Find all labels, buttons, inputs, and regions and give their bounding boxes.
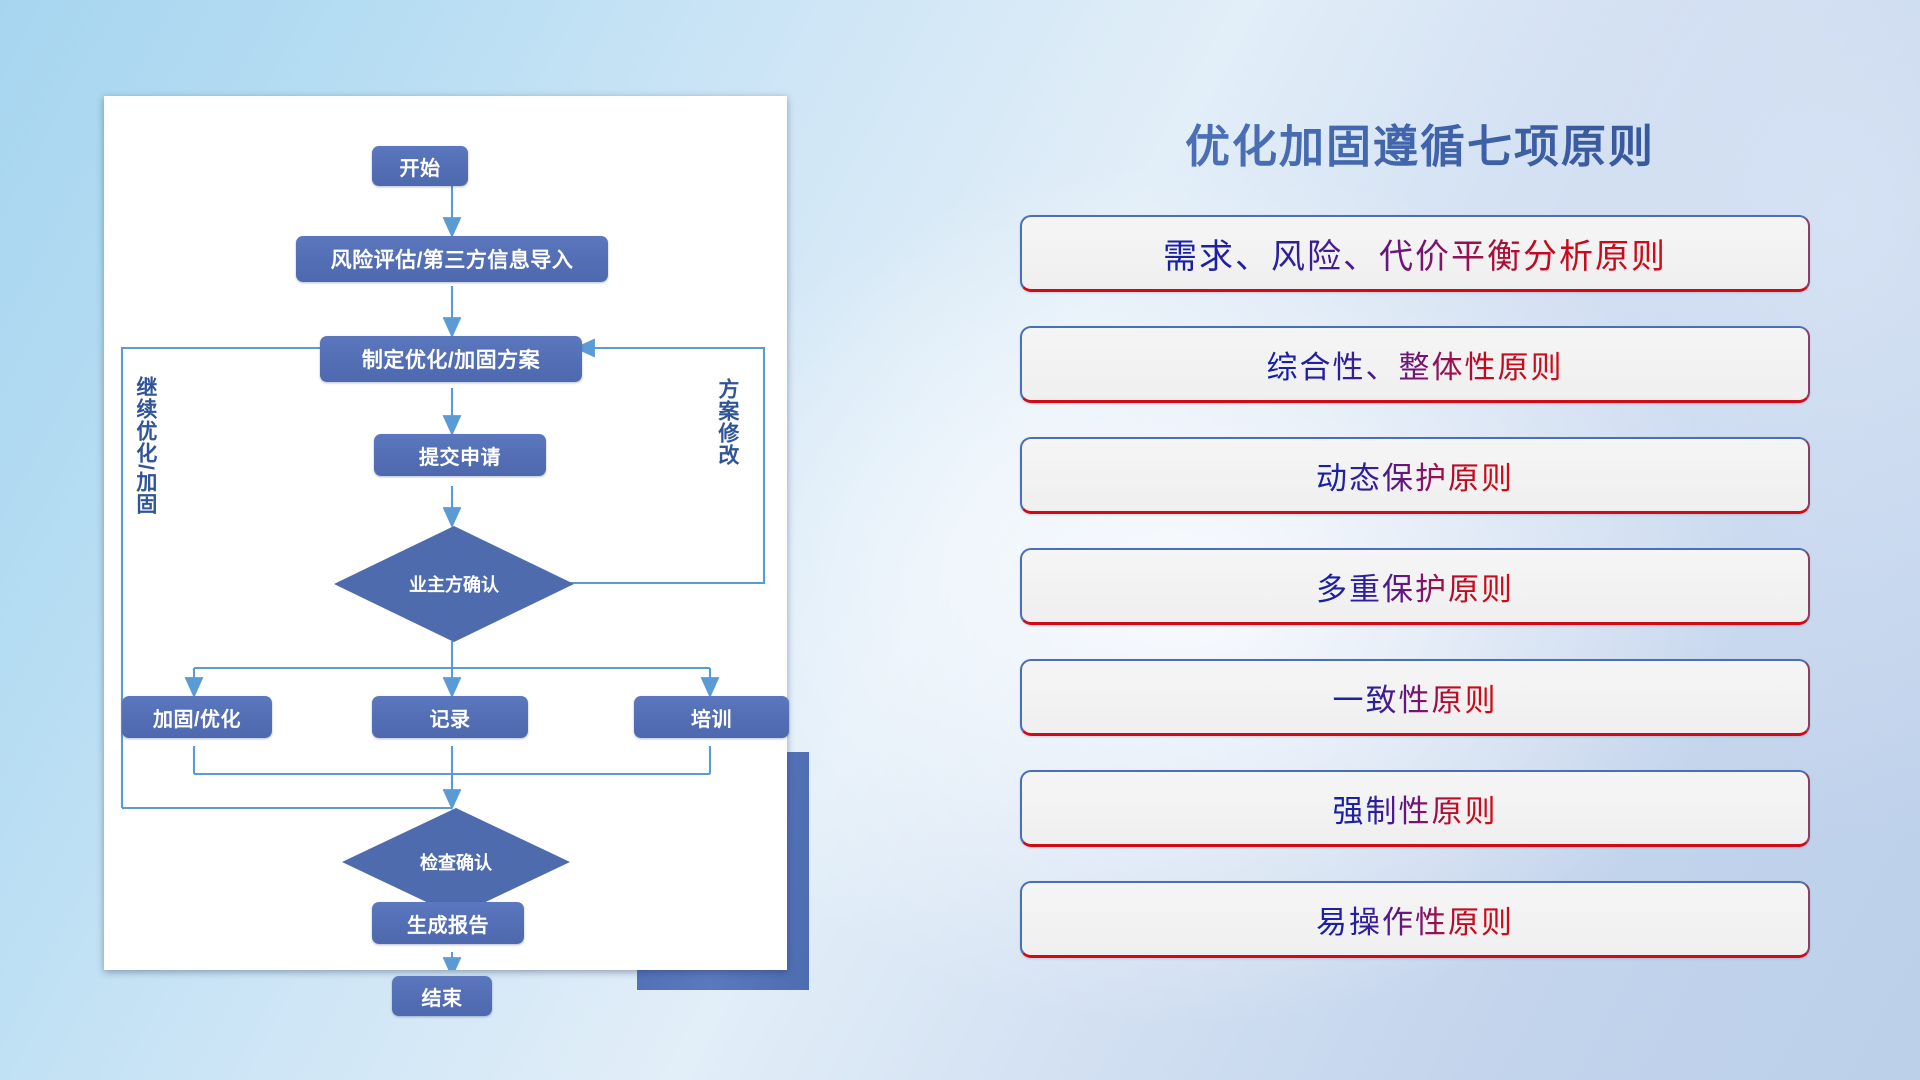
flowchart-card: 开始 风险评估/第三方信息导入 制定优化/加固方案 提交申请 业主方确认 加固/… <box>104 96 787 970</box>
flow-node-generate-report[interactable]: 生成报告 <box>372 902 524 944</box>
principle-item-7[interactable]: 易操作性原则 <box>1020 881 1810 958</box>
flow-node-label: 业主方确认 <box>409 571 499 597</box>
flow-node-make-plan[interactable]: 制定优化/加固方案 <box>320 336 582 382</box>
edge-label-continue-optimize: 继续优化/加固 <box>134 376 156 515</box>
flow-node-end[interactable]: 结束 <box>392 976 492 1016</box>
principle-label: 多重保护原则 <box>1316 564 1514 609</box>
principle-item-6[interactable]: 强制性原则 <box>1020 770 1810 847</box>
principle-label: 一致性原则 <box>1333 675 1498 720</box>
principles-panel: 优化加固遵循七项原则 需求、风险、代价平衡分析原则 综合性、整体性原则 动态保护… <box>1020 96 1820 996</box>
flow-node-reinforce-optimize[interactable]: 加固/优化 <box>122 696 272 738</box>
flow-node-label: 培训 <box>691 703 732 732</box>
principle-item-5[interactable]: 一致性原则 <box>1020 659 1810 736</box>
principle-label: 需求、风险、代价平衡分析原则 <box>1163 229 1667 278</box>
principle-label: 强制性原则 <box>1333 786 1498 831</box>
flow-node-label: 生成报告 <box>407 909 489 938</box>
flow-node-record[interactable]: 记录 <box>372 696 528 738</box>
principle-item-4[interactable]: 多重保护原则 <box>1020 548 1810 625</box>
flow-node-label: 提交申请 <box>419 441 501 470</box>
principle-label: 综合性、整体性原则 <box>1267 342 1564 387</box>
principle-item-2[interactable]: 综合性、整体性原则 <box>1020 326 1810 403</box>
edge-label-plan-revision: 方案修改 <box>716 378 738 466</box>
flow-node-training[interactable]: 培训 <box>634 696 789 738</box>
flow-node-label: 风险评估/第三方信息导入 <box>331 244 574 274</box>
flowchart-canvas: 开始 风险评估/第三方信息导入 制定优化/加固方案 提交申请 业主方确认 加固/… <box>104 96 787 970</box>
flow-node-label: 制定优化/加固方案 <box>362 344 540 374</box>
flow-node-label: 加固/优化 <box>153 703 241 732</box>
flow-node-label: 记录 <box>430 703 471 732</box>
flow-node-start[interactable]: 开始 <box>372 146 468 186</box>
principle-label: 易操作性原则 <box>1316 897 1514 942</box>
flow-node-submit-application[interactable]: 提交申请 <box>374 434 546 476</box>
flow-node-label: 开始 <box>400 152 441 181</box>
flow-node-label: 结束 <box>422 982 463 1011</box>
principle-item-3[interactable]: 动态保护原则 <box>1020 437 1810 514</box>
principle-item-1[interactable]: 需求、风险、代价平衡分析原则 <box>1020 215 1810 292</box>
principles-title: 优化加固遵循七项原则 <box>1020 110 1820 175</box>
flow-node-label: 检查确认 <box>420 849 492 875</box>
slide-stage: 开始 风险评估/第三方信息导入 制定优化/加固方案 提交申请 业主方确认 加固/… <box>0 0 1920 1080</box>
principle-label: 动态保护原则 <box>1316 453 1514 498</box>
flow-node-risk-assessment[interactable]: 风险评估/第三方信息导入 <box>296 236 608 282</box>
